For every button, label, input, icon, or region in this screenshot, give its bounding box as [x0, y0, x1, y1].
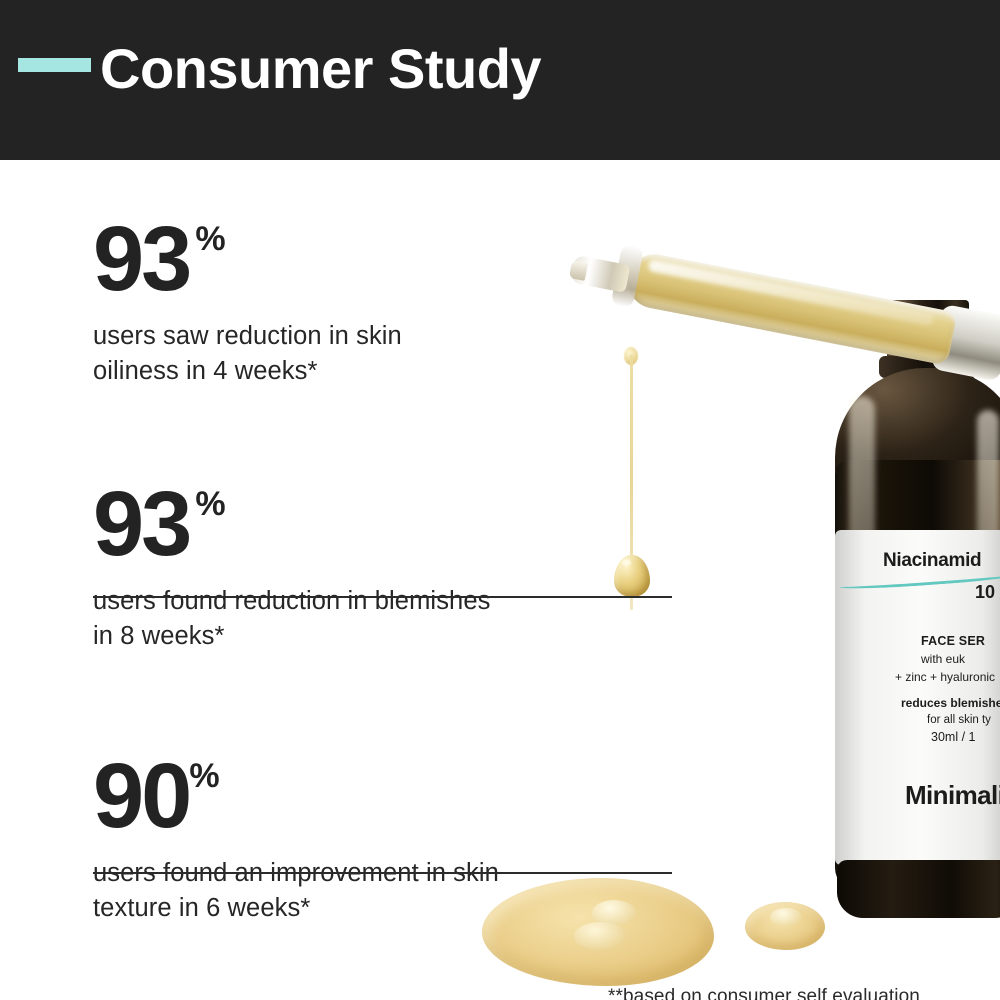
stat-value-row: 90 % [93, 757, 499, 836]
stat-item-blemishes: 93 % users found reduction in blemishes … [93, 485, 490, 654]
stat-divider-1 [93, 596, 672, 598]
page-title: Consumer Study [100, 41, 541, 97]
stat-number: 93 [93, 485, 189, 564]
stat-value-row: 93 % [93, 485, 490, 564]
stat-divider-2 [93, 872, 672, 874]
header-bar: Consumer Study [0, 0, 1000, 160]
stat-description: users saw reduction in skin oiliness in … [93, 319, 402, 389]
infographic-page: Consumer Study Niacinamid 10 FACE SER wi… [0, 0, 1000, 1000]
stat-percent-sign: % [189, 759, 219, 793]
stat-percent-sign: % [195, 487, 225, 521]
stat-number: 90 [93, 757, 189, 836]
stat-description: users found an improvement in skin textu… [93, 856, 499, 926]
stat-item-texture: 90 % users found an improvement in skin … [93, 757, 499, 926]
stat-percent-sign: % [195, 222, 225, 256]
stat-description: users found reduction in blemishes in 8 … [93, 584, 490, 654]
stats-list: 93 % users saw reduction in skin oilines… [0, 160, 1000, 1000]
footnote-text: **based on consumer self evaluation [608, 986, 920, 1000]
stat-item-oiliness: 93 % users saw reduction in skin oilines… [93, 220, 402, 389]
stat-number: 93 [93, 220, 189, 299]
header-dash-icon [18, 58, 91, 72]
stat-value-row: 93 % [93, 220, 402, 299]
